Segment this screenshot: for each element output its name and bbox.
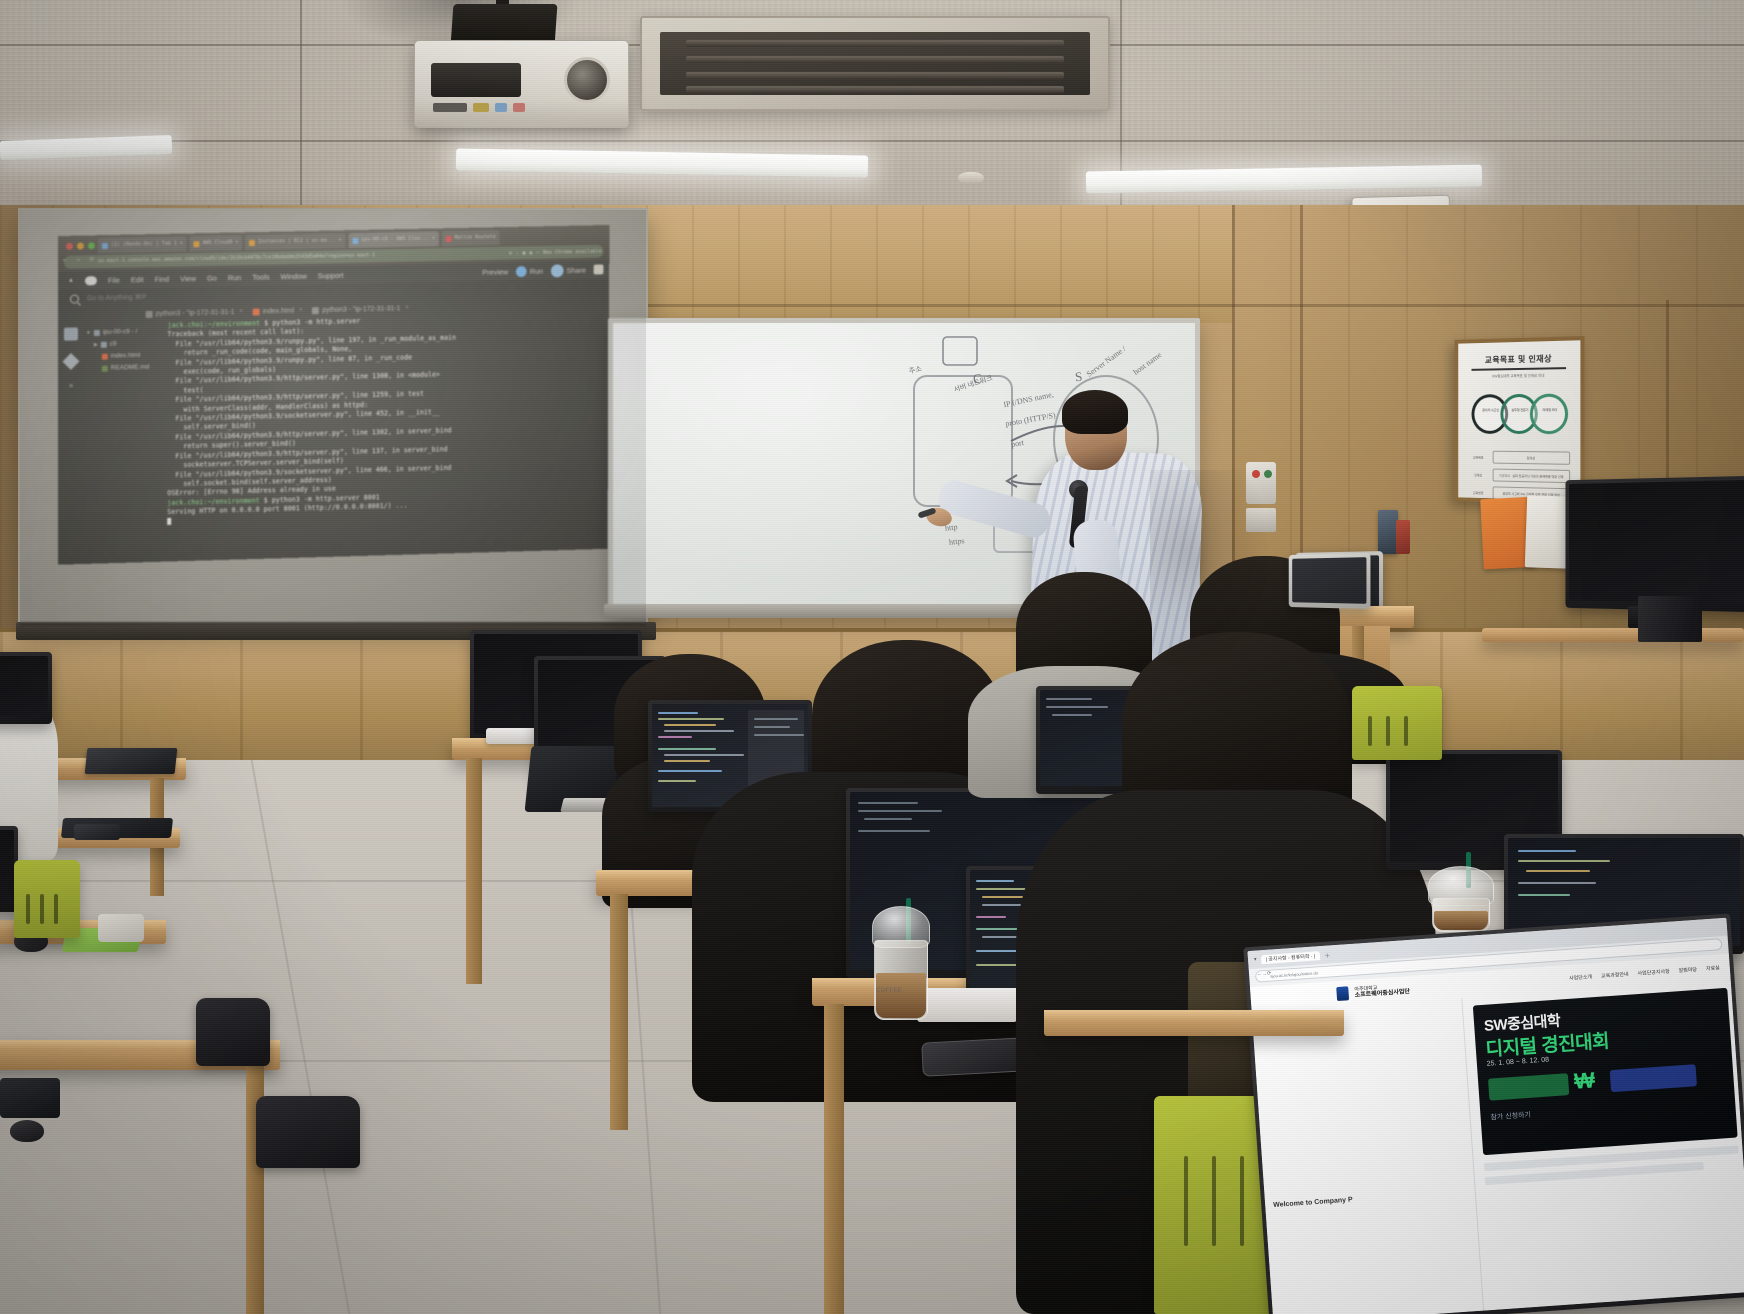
nav-item[interactable]: 교육과정안내 bbox=[1601, 970, 1629, 979]
browser-tab-active[interactable]: ipv-00-c9 - AWS Clou... × bbox=[348, 231, 439, 248]
outline-icon[interactable]: ≡ bbox=[69, 382, 73, 389]
file-explorer-icon[interactable] bbox=[64, 327, 78, 340]
nav-item[interactable]: 사업단소개 bbox=[1569, 973, 1592, 982]
search-icon[interactable] bbox=[70, 294, 79, 303]
laptop-nav-buttons[interactable]: ←→⟳ bbox=[1257, 971, 1272, 978]
chevron-down-icon[interactable]: ▾ bbox=[1254, 957, 1257, 963]
poster-circle-1-label: 창의적 사고인 bbox=[1475, 408, 1506, 412]
cpu-tower bbox=[1638, 596, 1702, 642]
laptop-lid: ▾ | 공지사항 - 컴퓨터학 · | ＋ ajou.ac.kr/kr/ajou… bbox=[1243, 913, 1744, 1314]
cup-label: COFFEE bbox=[876, 988, 902, 994]
ceiling-ac-unit bbox=[640, 16, 1110, 111]
backpack bbox=[256, 1096, 360, 1168]
laptop-browser-tab[interactable]: | 공지사항 - 컴퓨터학 · | bbox=[1260, 951, 1320, 964]
keyboard bbox=[917, 988, 1023, 1022]
ide-tab-terminal-1[interactable]: python3 - "ip-172-31-31-1 × bbox=[146, 308, 243, 317]
poster-row-label: 교육목표 bbox=[1468, 450, 1489, 463]
poster-subtitle: SW중심대학 교육목표 및 인재상 안내 bbox=[1470, 373, 1569, 380]
run-button-label: Run bbox=[530, 266, 543, 275]
tab-close-icon[interactable]: × bbox=[432, 231, 435, 246]
run-button[interactable]: Run bbox=[516, 265, 543, 276]
ceiling-seam bbox=[1120, 0, 1122, 230]
file-tree-label: index.html bbox=[111, 350, 140, 363]
browser-tab[interactable]: AWS Cloud9 × bbox=[190, 235, 243, 251]
nav-item[interactable]: 자료실 bbox=[1706, 964, 1720, 972]
ac-vent-inner bbox=[660, 32, 1090, 95]
projection-screen-surface: (1) (Hands-On) | Tab 1 × AWS Cloud9 × In… bbox=[20, 210, 646, 626]
browser-tab-label: ipv-00-c9 - AWS Clou... bbox=[361, 232, 429, 248]
tab-close-icon[interactable]: × bbox=[338, 233, 341, 248]
browser-tab[interactable]: (1) (Hands-On) | Tab 1 × bbox=[98, 236, 187, 253]
poster-row: 교육목표 창의성 bbox=[1468, 449, 1570, 465]
whiteboard-note: https bbox=[949, 536, 965, 547]
chevron-right-icon[interactable]: ▶ bbox=[94, 339, 98, 351]
folder-icon bbox=[101, 342, 107, 348]
tab-favicon-icon bbox=[352, 237, 358, 243]
site-nav[interactable]: 사업단소개 교육과정안내 사업단공지사항 알림마당 자료실 bbox=[1569, 963, 1730, 981]
menu-window[interactable]: Window bbox=[280, 271, 306, 280]
menu-go[interactable]: Go bbox=[207, 273, 217, 282]
ide-tab-label: python3 - "ip-172-31-31-1 bbox=[322, 305, 400, 314]
poster-circle-3-label: 미래형 리더 bbox=[1534, 408, 1566, 412]
poster-circle-2-label: 실무형 전문가 bbox=[1504, 408, 1536, 412]
html-file-icon bbox=[253, 308, 260, 315]
ide-file-tree[interactable]: ▼ ipu-00-c9 - / ▶ c9 index.html bbox=[86, 326, 164, 376]
preview-button[interactable]: Preview bbox=[482, 267, 508, 276]
wall-poster: 교육목표 및 인재상 SW중심대학 교육목표 및 인재상 안내 창의적 사고인 … bbox=[1454, 336, 1584, 505]
laptop-url-text: ajou.ac.kr/kr/ajou/notice.do bbox=[1270, 970, 1318, 978]
poster-row: 인재상 기초지식 · 심화 전공지식 기반의 문제해결 역량 인재 bbox=[1468, 467, 1570, 484]
browser-tab-label: Instances | EC2 | us-ea... bbox=[258, 233, 335, 249]
menu-file[interactable]: File bbox=[108, 275, 120, 284]
ide-tab-label: index.html bbox=[263, 307, 295, 315]
url-text: us-east-1.console.aws.amazon.com/cloud9/… bbox=[98, 252, 375, 264]
back-monitor-screen bbox=[1569, 480, 1744, 604]
menu-tools[interactable]: Tools bbox=[252, 272, 269, 281]
classroom-photo: (1) (Hands-On) | Tab 1 × AWS Cloud9 × In… bbox=[0, 0, 1744, 1314]
phone bbox=[74, 824, 120, 840]
file-tree-item[interactable]: README.md bbox=[86, 361, 164, 375]
menu-icon[interactable]: ⋯ bbox=[536, 250, 539, 256]
tab-favicon-icon bbox=[194, 241, 200, 247]
poster-title: 교육목표 및 인재상 bbox=[1458, 353, 1580, 367]
browser-tab-label: Mattie Routete bbox=[454, 230, 495, 246]
browser-toolbar-icons[interactable]: ⊕ ☆ ▣ ◉ ⋯ New Chrome available bbox=[509, 245, 602, 260]
markdown-file-icon bbox=[102, 366, 108, 372]
window-maximize-button[interactable] bbox=[88, 242, 95, 249]
promo-chip-2 bbox=[1609, 1064, 1696, 1092]
tab-favicon-icon bbox=[446, 236, 452, 242]
promo-banner[interactable]: SW중심대학 디지털 경진대회 25. 1. 08 ~ 8. 12. 08 ₩ … bbox=[1473, 988, 1738, 1155]
html-file-icon bbox=[102, 354, 108, 360]
zoom-icon[interactable]: ⊕ bbox=[509, 250, 512, 256]
poster-row-label: 교육방향 bbox=[1468, 486, 1489, 499]
ceiling-projector bbox=[414, 40, 629, 128]
aws-resources-icon[interactable] bbox=[62, 353, 79, 370]
new-tab-icon[interactable]: ＋ bbox=[1324, 950, 1331, 959]
tab-close-icon[interactable]: × bbox=[405, 305, 408, 311]
share-button[interactable]: Share bbox=[551, 263, 586, 277]
promo-cta[interactable]: 참가 신청하기 bbox=[1490, 1110, 1531, 1123]
terminal-icon bbox=[312, 307, 319, 314]
terminal-icon bbox=[146, 310, 153, 317]
nav-item[interactable]: 알림마당 bbox=[1678, 965, 1697, 973]
instructor-hair bbox=[1062, 390, 1128, 434]
extension-icon[interactable]: ▣ bbox=[523, 250, 526, 256]
chevron-down-icon[interactable]: ▼ bbox=[86, 327, 91, 339]
gear-icon[interactable] bbox=[594, 264, 604, 274]
share-button-label: Share bbox=[566, 265, 586, 274]
keyboard-dark bbox=[0, 1078, 60, 1118]
browser-tab[interactable]: Mattie Routete bbox=[442, 230, 500, 246]
desk-item bbox=[1396, 520, 1410, 554]
file-tree-label: README.md bbox=[111, 362, 149, 375]
notebook bbox=[85, 748, 178, 774]
desk-laptop bbox=[1289, 553, 1371, 609]
desk-leg bbox=[824, 1004, 844, 1314]
browser-tab-label: (1) (Hands-On) | Tab 1 bbox=[111, 237, 177, 253]
chair bbox=[1352, 686, 1442, 760]
menu-edit[interactable]: Edit bbox=[131, 275, 144, 284]
promo-currency-icon: ₩ bbox=[1573, 1067, 1596, 1094]
menu-view[interactable]: View bbox=[180, 274, 196, 283]
projection-screen: (1) (Hands-On) | Tab 1 × AWS Cloud9 × In… bbox=[18, 208, 648, 628]
goto-anything-input[interactable]: Go to Anything ⌘P bbox=[87, 293, 146, 302]
update-banner[interactable]: New Chrome available bbox=[543, 248, 602, 255]
poster-divider bbox=[1472, 367, 1567, 370]
collapse-icon[interactable]: ▲ bbox=[68, 278, 74, 284]
browser-tab[interactable]: Instances | EC2 | us-ea... × bbox=[245, 233, 345, 250]
ide-tab-terminal-2[interactable]: python3 - "ip-172-31-31-1 × bbox=[312, 305, 408, 314]
profile-icon[interactable]: ◉ bbox=[529, 250, 532, 256]
poster-row-value: 기초지식 · 심화 전공지식 기반의 문제해결 역량 인재 bbox=[1493, 469, 1571, 484]
tab-close-icon[interactable]: × bbox=[180, 236, 183, 251]
back-monitor bbox=[1565, 476, 1744, 613]
cloud9-logo-icon[interactable] bbox=[85, 276, 97, 285]
mouse bbox=[10, 1120, 44, 1142]
star-icon[interactable]: ☆ bbox=[516, 250, 519, 256]
laptop-browser-screen[interactable]: ▾ | 공지사항 - 컴퓨터학 · | ＋ ajou.ac.kr/kr/ajou… bbox=[1247, 918, 1744, 1314]
ceiling-seam bbox=[300, 0, 302, 230]
share-icon bbox=[551, 264, 564, 277]
tab-close-icon[interactable]: × bbox=[235, 235, 238, 250]
tab-close-icon[interactable]: × bbox=[239, 309, 242, 315]
backpack bbox=[196, 998, 270, 1066]
desk-item bbox=[1378, 510, 1398, 554]
poster-row-label: 인재상 bbox=[1468, 468, 1489, 481]
back-counter bbox=[1482, 628, 1744, 642]
terminal-command: $ python3 -m http.server bbox=[260, 317, 360, 327]
file-tree-label: c9 bbox=[110, 339, 117, 351]
terminal-prompt-user: jack.choi:~/environment bbox=[167, 319, 260, 329]
desk-leg bbox=[466, 758, 482, 984]
ceiling-seam bbox=[0, 140, 1744, 142]
ide-tab-label: python3 - "ip-172-31-31-1 bbox=[156, 309, 235, 318]
poster-row-value: 창의성 bbox=[1493, 451, 1571, 465]
window-close-button[interactable] bbox=[66, 243, 73, 250]
tab-close-icon[interactable]: × bbox=[299, 308, 302, 314]
student-desk bbox=[1044, 1010, 1344, 1036]
chair bbox=[14, 860, 80, 938]
promo-chip-1 bbox=[1488, 1073, 1569, 1101]
tab-favicon-icon bbox=[102, 242, 108, 248]
ide-tab-index-html[interactable]: index.html × bbox=[253, 307, 303, 315]
iced-coffee-cup bbox=[1432, 898, 1490, 932]
poster-circle-3 bbox=[1530, 394, 1568, 435]
browser-tab-label: AWS Cloud9 bbox=[203, 235, 233, 251]
student-monitor bbox=[0, 652, 52, 724]
shadow bbox=[1150, 470, 1270, 670]
smoke-detector bbox=[958, 172, 984, 184]
foreground-laptop[interactable]: ▾ | 공지사항 - 컴퓨터학 · | ＋ ajou.ac.kr/kr/ajou… bbox=[1243, 913, 1744, 1314]
window-minimize-button[interactable] bbox=[77, 242, 84, 249]
paper-stack bbox=[98, 914, 144, 942]
nav-item[interactable]: 사업단공지사항 bbox=[1637, 967, 1670, 976]
menu-find[interactable]: Find bbox=[155, 274, 170, 283]
menu-support[interactable]: Support bbox=[318, 270, 344, 279]
folder-icon bbox=[94, 330, 100, 336]
cloud9-ide-projection[interactable]: (1) (Hands-On) | Tab 1 × AWS Cloud9 × In… bbox=[58, 225, 610, 565]
file-tree-root-label: ipu-00-c9 - / bbox=[103, 326, 138, 339]
iced-coffee-cup bbox=[874, 940, 928, 1020]
ide-terminal[interactable]: jack.choi:~/environment $ python3 -m htt… bbox=[167, 312, 605, 560]
cup-liquid bbox=[876, 973, 926, 1018]
desk-leg bbox=[610, 894, 628, 1130]
projector-vent bbox=[431, 63, 521, 97]
tab-favicon-icon bbox=[249, 239, 255, 245]
cup-liquid bbox=[1434, 911, 1488, 930]
run-icon bbox=[516, 266, 527, 277]
menu-run[interactable]: Run bbox=[228, 273, 242, 282]
university-logo-icon bbox=[1336, 986, 1349, 1001]
smartphone bbox=[921, 1037, 1027, 1076]
projector-lens bbox=[564, 57, 610, 103]
wall-trim-line bbox=[600, 304, 1744, 307]
ide-activity-rail[interactable]: ≡ bbox=[58, 307, 84, 564]
